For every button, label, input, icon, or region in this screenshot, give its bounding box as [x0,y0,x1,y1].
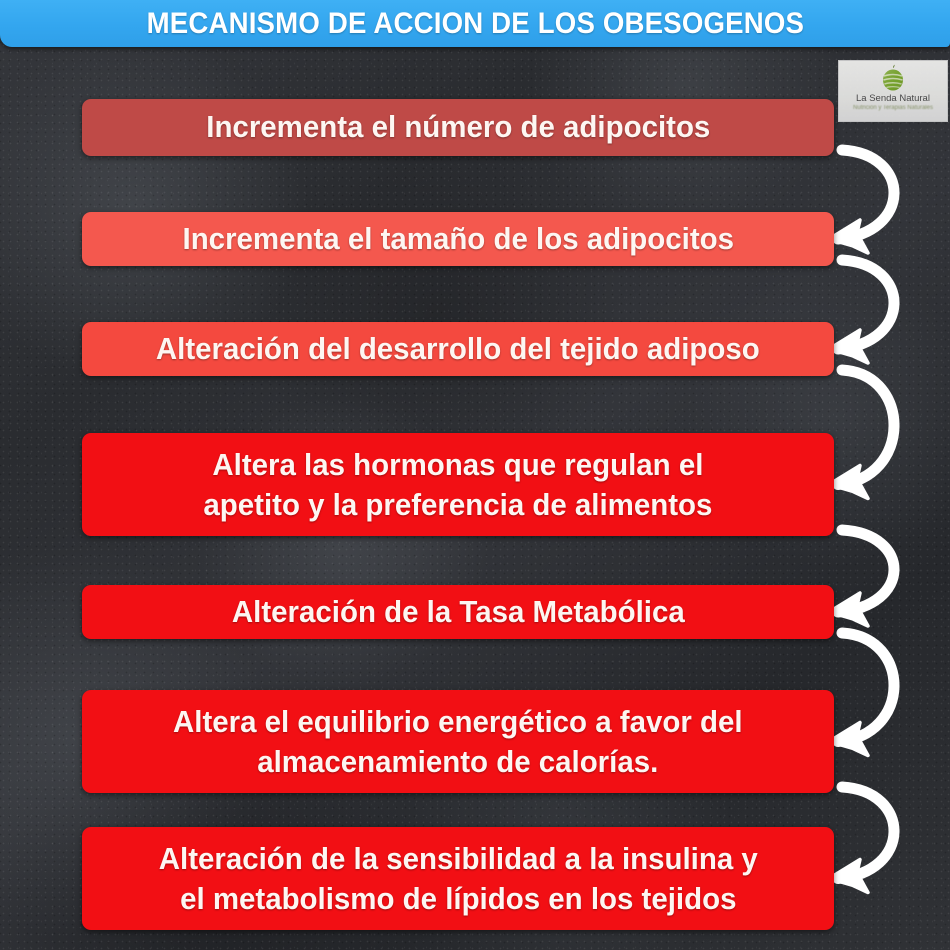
flow-step-label: Incrementa el tamaño de los adipocitos [171,223,745,256]
flow-arrow-icon [820,763,945,903]
flow-arrow-icon [820,609,945,766]
flow-step-label: Alteración del desarrollo del tejido adi… [145,333,772,366]
logo-tagline: Nutrición y Terapias Naturales [853,105,933,111]
flow-step-box: Alteración del desarrollo del tejido adi… [82,322,834,376]
flow-step-label: Altera el equilibrio energético a favor … [162,702,754,781]
flow-arrow-icon [820,346,945,509]
infographic-canvas: MECANISMO DE ACCION DE LOS OBESOGENOS La… [0,0,950,950]
flow-arrow-icon [820,236,945,373]
flow-step-box: Incrementa el tamaño de los adipocitos [82,212,834,266]
flow-step-label: Altera las hormonas que regulan elapetit… [192,445,724,524]
flow-arrow-icon [820,126,945,263]
flow-step-box: Alteración de la Tasa Metabólica [82,585,834,639]
flow-step-box: Altera el equilibrio energético a favor … [82,690,834,793]
flow-arrow-icon [820,506,945,636]
flow-step-label: Alteración de la Tasa Metabólica [220,596,696,629]
logo-brand-name: La Senda Natural [856,93,930,104]
flow-step-label: Incrementa el número de adipocitos [195,111,722,144]
green-apple-icon [878,64,908,92]
flow-step-box: Alteración de la sensibilidad a la insul… [82,827,834,930]
flow-step-box: Incrementa el número de adipocitos [82,99,834,156]
title-bar: MECANISMO DE ACCION DE LOS OBESOGENOS [0,0,950,47]
brand-logo: La Senda Natural Nutrición y Terapias Na… [838,60,948,122]
page-title: MECANISMO DE ACCION DE LOS OBESOGENOS [146,7,804,41]
flow-step-label: Alteración de la sensibilidad a la insul… [147,839,769,918]
flow-step-box: Altera las hormonas que regulan elapetit… [82,433,834,536]
